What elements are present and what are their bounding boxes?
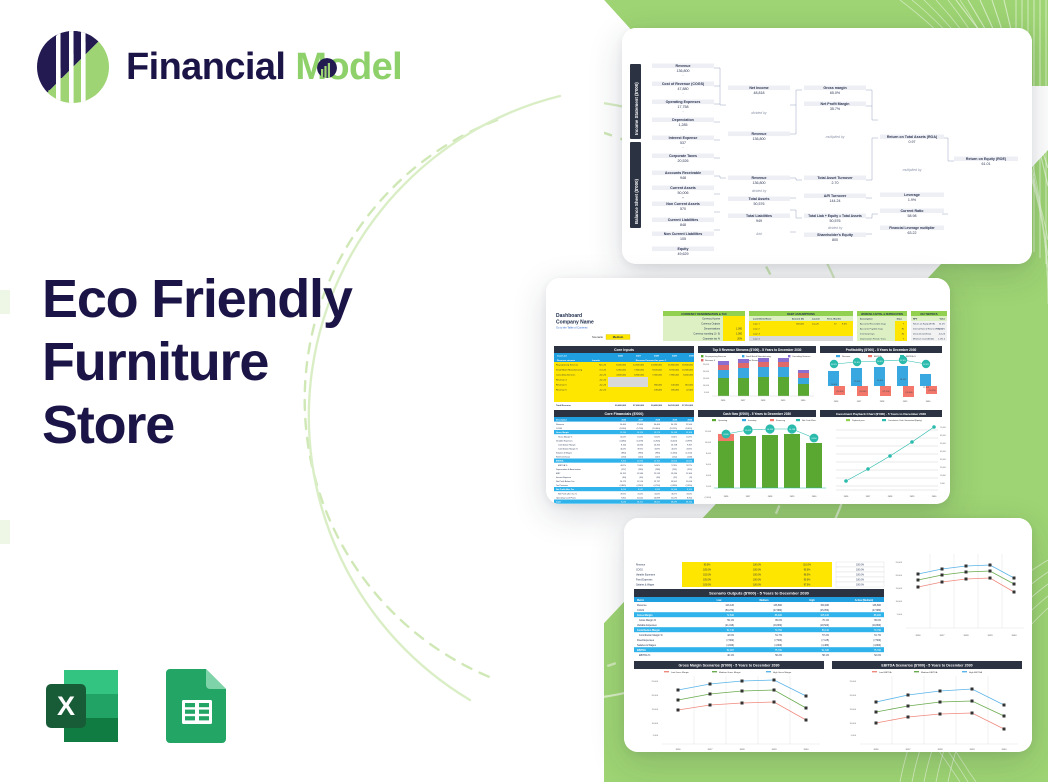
svg-text:18,500,000: 18,500,000 <box>682 365 694 367</box>
svg-text:Revenue Forecast for years 1: Revenue Forecast for years 1 <box>636 359 667 362</box>
svg-text:2026: 2026 <box>916 635 922 637</box>
svg-text:Metric: Metric <box>637 599 645 602</box>
svg-text:58.98: 58.98 <box>908 214 917 218</box>
svg-text:Currency Access: Currency Access <box>702 318 721 321</box>
svg-text:Tax Provision: Tax Provision <box>556 485 568 487</box>
svg-text:20,000: 20,000 <box>896 575 903 577</box>
svg-text:10,350: 10,350 <box>767 429 774 431</box>
svg-text:52.0%: 52.0% <box>874 654 882 657</box>
svg-text:Return on Total Assets (ROA): Return on Total Assets (ROA) <box>887 135 938 139</box>
svg-text:Accounts Receivable Days: Accounts Receivable Days <box>860 323 887 326</box>
svg-text:EBITDA %: EBITDA % <box>906 355 916 358</box>
svg-text:8,400,000: 8,400,000 <box>616 365 627 367</box>
svg-text:Core Inputs: Core Inputs <box>614 348 634 352</box>
svg-text:70,760: 70,760 <box>874 629 882 632</box>
financial-ratios-tree-screenshot[interactable]: Income Statement ($'000) Balance Sheet (… <box>622 28 1032 264</box>
svg-text:140,000: 140,000 <box>671 385 680 387</box>
svg-text:136,800: 136,800 <box>753 181 766 185</box>
svg-text:8.5%: 8.5% <box>842 324 847 326</box>
svg-text:(4,480): (4,480) <box>821 644 829 647</box>
svg-text:(19,860): (19,860) <box>872 624 881 627</box>
svg-text:Medium EBITDA: Medium EBITDA <box>921 671 938 674</box>
svg-text:38,699: 38,699 <box>671 502 678 504</box>
svg-text:11,300: 11,300 <box>686 473 693 475</box>
svg-text:16,800,000: 16,800,000 <box>668 365 680 367</box>
svg-text:+: + <box>682 196 684 200</box>
svg-text:21,000: 21,000 <box>940 467 946 469</box>
svg-text:Return on Equity (ROE): Return on Equity (ROE) <box>913 323 935 326</box>
svg-text:40.1%: 40.1% <box>727 654 735 657</box>
svg-text:2030: 2030 <box>804 749 810 751</box>
svg-text:Jan-26: Jan-26 <box>599 385 606 387</box>
svg-text:Jan-26: Jan-26 <box>599 390 606 392</box>
svg-text:(80): (80) <box>622 477 626 479</box>
svg-text:(7,500): (7,500) <box>774 639 782 642</box>
svg-text:(880): (880) <box>621 453 626 455</box>
svg-text:20,400,000: 20,400,000 <box>615 404 627 407</box>
svg-text:CURRENCY DENOMINATION & TAX: CURRENCY DENOMINATION & TAX <box>681 312 727 316</box>
svg-text:21,500: 21,500 <box>686 424 693 426</box>
svg-text:65.0%: 65.0% <box>775 619 783 622</box>
svg-text:27,600,000: 27,600,000 <box>633 405 645 407</box>
svg-text:8,040: 8,040 <box>723 434 729 436</box>
svg-text:(4,800): (4,800) <box>774 644 782 647</box>
svg-text:(10,200): (10,200) <box>836 391 843 393</box>
svg-text:Company Name: Company Name <box>556 320 594 326</box>
svg-text:5,000: 5,000 <box>704 392 710 394</box>
svg-text:1.9%: 1.9% <box>908 198 917 202</box>
svg-text:Inventory Days: Inventory Days <box>860 333 875 336</box>
slide-canvas: Financial Model Ec <box>0 0 1048 782</box>
svg-text:Consulting Services: Consulting Services <box>792 355 810 358</box>
svg-text:Oct-26: Oct-26 <box>599 369 606 372</box>
svg-text:12,240: 12,240 <box>620 432 627 434</box>
svg-text:Operating Cash Flows: Operating Cash Flows <box>556 497 576 500</box>
svg-text:51.4%: 51.4% <box>854 362 860 364</box>
svg-text:10,198: 10,198 <box>789 429 796 431</box>
svg-text:Revenue 4: Revenue 4 <box>705 360 716 362</box>
svg-text:Contribution Margin: Contribution Margin <box>637 629 660 632</box>
svg-text:divided by: divided by <box>752 189 767 193</box>
svg-text:9,820: 9,820 <box>655 489 661 491</box>
svg-text:(7,500): (7,500) <box>873 639 881 642</box>
svg-text:(140): (140) <box>638 457 643 459</box>
svg-text:(291): (291) <box>672 469 677 471</box>
svg-text:7,801: 7,801 <box>621 498 627 500</box>
svg-text:10,846: 10,846 <box>637 445 644 447</box>
svg-text:Scenario: Scenario <box>592 335 603 339</box>
svg-text:Small Batch Manufacturing: Small Batch Manufacturing <box>746 355 772 358</box>
svg-text:10,011: 10,011 <box>637 498 644 500</box>
svg-text:8,900: 8,900 <box>687 498 693 500</box>
svg-text:(10,640): (10,640) <box>653 428 661 430</box>
svg-text:EBITDA: EBITDA <box>556 460 564 463</box>
svg-text:(3,999): (3,999) <box>686 441 693 443</box>
svg-text:Salaries & Wages: Salaries & Wages <box>636 584 655 587</box>
svg-text:Revenue 6: Revenue 6 <box>556 390 567 392</box>
svg-text:105,430: 105,430 <box>820 614 829 617</box>
svg-text:18,151: 18,151 <box>637 502 644 504</box>
svg-text:Medium: Medium <box>759 599 768 602</box>
format-badges: X <box>40 664 236 748</box>
svg-text:100.0%: 100.0% <box>856 585 864 587</box>
svg-text:98.0%: 98.0% <box>804 575 811 577</box>
svg-text:Balance Sheet ($'000): Balance Sheet ($'000) <box>634 178 639 224</box>
svg-text:2026: 2026 <box>676 749 682 751</box>
svg-text:(147): (147) <box>655 457 660 459</box>
svg-text:Description: Description <box>556 418 568 421</box>
svg-text:Term, Months: Term, Months <box>827 318 842 321</box>
svg-text:Total Assets: Total Assets <box>749 197 770 201</box>
svg-text:Accounts Receivable: Accounts Receivable <box>665 171 701 175</box>
svg-text:57.2%: 57.2% <box>822 634 830 637</box>
svg-text:(19,860): (19,860) <box>773 624 782 627</box>
svg-text:13,901: 13,901 <box>671 481 678 483</box>
svg-text:Depreciation: Depreciation <box>672 118 694 122</box>
svg-text:1,000: 1,000 <box>940 483 945 485</box>
svg-text:Operating Expenses: Operating Expenses <box>666 100 701 104</box>
svg-text:948: 948 <box>680 176 686 180</box>
svg-text:1,000: 1,000 <box>736 333 743 336</box>
svg-text:Launch: Launch <box>812 319 820 321</box>
headline-line-2: Furniture <box>42 331 442 394</box>
svg-text:Jan-26: Jan-26 <box>599 375 606 377</box>
svg-text:2028: 2028 <box>740 749 746 751</box>
svg-text:136,800: 136,800 <box>872 604 881 607</box>
svg-text:(9,706): (9,706) <box>637 428 644 430</box>
svg-text:39.5%: 39.5% <box>620 494 626 496</box>
svg-text:95.0%: 95.0% <box>804 570 811 572</box>
svg-text:50,576: 50,576 <box>830 219 841 223</box>
svg-text:2027: 2027 <box>708 749 714 751</box>
svg-text:46.1%: 46.1% <box>831 364 837 366</box>
svg-text:500,000: 500,000 <box>796 324 805 326</box>
svg-text:Accounts Payable Days: Accounts Payable Days <box>860 328 884 331</box>
svg-text:Return on Equity (ROE): Return on Equity (ROE) <box>966 157 1007 161</box>
svg-text:10,000: 10,000 <box>652 723 659 725</box>
svg-text:47,880: 47,880 <box>678 87 689 91</box>
svg-text:(10,620): (10,620) <box>928 390 935 392</box>
svg-text:Low: Low <box>717 599 722 602</box>
scenario-analysis-screenshot[interactable]: Revenue 90.0% 100.0% 110.0% 100.0% COGS … <box>624 518 1032 752</box>
svg-text:Net Profit After Tax: Net Profit After Tax <box>556 488 575 491</box>
svg-text:Currency Outputs: Currency Outputs <box>701 323 721 326</box>
svg-text:5,350,000: 5,350,000 <box>616 370 627 372</box>
svg-text:(12,115): (12,115) <box>670 428 678 430</box>
svg-text:50,576: 50,576 <box>754 202 765 206</box>
svg-text:Depreciation Period, Years: Depreciation Period, Years <box>860 338 887 341</box>
svg-text:Small Batch Manufacturing: Small Batch Manufacturing <box>556 369 583 372</box>
svg-text:60.0%: 60.0% <box>620 437 626 439</box>
brand-name-part2-wrap: Model <box>295 48 402 86</box>
svg-text:High: High <box>809 599 815 602</box>
svg-text:multiplied by: multiplied by <box>826 135 845 139</box>
svg-text:100.0%: 100.0% <box>753 585 761 587</box>
svg-text:46.1%: 46.1% <box>620 465 626 467</box>
svg-text:12,000: 12,000 <box>705 431 712 433</box>
svg-text:Contribution Margin: Contribution Margin <box>558 444 575 447</box>
svg-text:(8,160): (8,160) <box>620 428 627 430</box>
svg-text:(5,926): (5,926) <box>654 441 661 443</box>
svg-text:15,000: 15,000 <box>850 709 857 711</box>
svg-text:72,846: 72,846 <box>727 614 735 617</box>
svg-text:Financial Leverage multiplier: Financial Leverage multiplier <box>889 226 935 230</box>
svg-text:(6,420): (6,420) <box>671 441 678 443</box>
svg-text:Revenue: Revenue <box>556 424 565 426</box>
svg-text:Revenue 5: Revenue 5 <box>556 385 567 387</box>
svg-text:13,306: 13,306 <box>686 432 693 434</box>
svg-text:2030: 2030 <box>1002 749 1008 751</box>
svg-text:570: 570 <box>680 207 686 211</box>
svg-text:Medium: Medium <box>613 335 624 339</box>
svg-text:4,000: 4,000 <box>706 475 712 477</box>
svg-text:31.0%: 31.0% <box>637 494 643 496</box>
svg-text:X: X <box>57 691 75 721</box>
svg-text:10,000: 10,000 <box>703 385 710 387</box>
svg-text:11,056: 11,056 <box>686 481 693 483</box>
svg-text:(280): (280) <box>638 469 643 471</box>
svg-text:2026: 2026 <box>874 749 880 751</box>
left-content-column: Financial Model Ec <box>0 0 470 782</box>
svg-text:100.0%: 100.0% <box>753 575 761 577</box>
svg-text:105.0%: 105.0% <box>703 580 711 582</box>
brand-name-part2: Model <box>295 46 402 88</box>
svg-text:4,600,000: 4,600,000 <box>616 375 627 377</box>
svg-text:49,629: 49,629 <box>678 252 689 256</box>
svg-text:36.7%: 36.7% <box>671 494 677 496</box>
svg-text:75,700: 75,700 <box>874 649 882 652</box>
svg-text:136,800: 136,800 <box>677 69 690 73</box>
svg-text:(2,000): (2,000) <box>705 497 712 499</box>
svg-text:9,307: 9,307 <box>687 445 693 447</box>
svg-text:Income Statement ($'000): Income Statement ($'000) <box>634 82 639 135</box>
svg-text:Financing: Financing <box>776 420 786 422</box>
svg-text:Revenue: Revenue <box>842 356 851 358</box>
svg-text:48,100: 48,100 <box>686 502 693 504</box>
svg-text:Cost Line: Cost Line <box>557 354 568 357</box>
svg-text:(4,580): (4,580) <box>671 485 678 487</box>
svg-text:33.0%: 33.0% <box>686 494 692 496</box>
svg-text:13,350: 13,350 <box>654 445 661 447</box>
svg-text:10,000: 10,000 <box>705 442 712 444</box>
svg-text:-: - <box>683 74 684 78</box>
svg-text:Salaries & Wages: Salaries & Wages <box>556 453 572 455</box>
svg-text:Nov-26: Nov-26 <box>599 365 607 367</box>
svg-text:Cash flow ($'000) - 5 Years to: Cash flow ($'000) - 5 Years to December … <box>723 412 791 416</box>
svg-text:(980): (980) <box>638 453 643 455</box>
svg-text:EBITDA %: EBITDA % <box>639 654 651 657</box>
svg-text:2027: 2027 <box>906 749 912 751</box>
svg-text:7,900,000: 7,900,000 <box>669 375 680 377</box>
svg-text:12,700: 12,700 <box>654 461 661 463</box>
svg-text:949: 949 <box>756 219 762 223</box>
svg-text:Gross Margin Scenarios ($'000): Gross Margin Scenarios ($'000) - 5 Years… <box>678 664 779 668</box>
svg-text:8,547: 8,547 <box>638 489 644 491</box>
brand-wordmark: Financial Model <box>126 48 402 86</box>
svg-text:EBIT: EBIT <box>556 473 561 475</box>
svg-text:51.7%: 51.7% <box>874 634 882 637</box>
svg-text:13,728: 13,728 <box>671 445 678 447</box>
svg-text:8,040: 8,040 <box>621 502 627 504</box>
svg-text:25,000: 25,000 <box>703 364 710 366</box>
svg-text:(1,060): (1,060) <box>671 453 678 455</box>
svg-text:31,000: 31,000 <box>940 459 946 461</box>
svg-text:Re-purposing Services: Re-purposing Services <box>705 355 726 358</box>
svg-text:Net Cash Flow: Net Cash Flow <box>802 419 816 422</box>
svg-text:Shareholder's Equity: Shareholder's Equity <box>817 233 853 237</box>
svg-text:27,600: 27,600 <box>637 424 644 426</box>
svg-text:Investing: Investing <box>748 419 757 422</box>
svg-text:9,100,000: 9,100,000 <box>652 370 663 372</box>
svg-text:Total Revenue: Total Revenue <box>556 404 572 407</box>
svg-text:Consulting Services: Consulting Services <box>556 374 576 377</box>
svg-text:25,000: 25,000 <box>896 562 903 564</box>
svg-text:8,160: 8,160 <box>621 445 627 447</box>
svg-text:Re-purposing Services: Re-purposing Services <box>556 364 579 367</box>
svg-text:41,000: 41,000 <box>940 451 946 453</box>
svg-text:Jan-26: Jan-26 <box>939 334 946 336</box>
svg-text:39.3%: 39.3% <box>637 449 643 451</box>
svg-text:COGS: COGS <box>637 609 644 612</box>
svg-text:19,276: 19,276 <box>654 432 661 434</box>
svg-text:Current Ratio: Current Ratio <box>901 209 925 213</box>
svg-text:9,700,000: 9,700,000 <box>669 370 680 372</box>
svg-text:-: - <box>683 110 684 114</box>
svg-text:30,400: 30,400 <box>877 380 883 382</box>
svg-text:90.0%: 90.0% <box>704 565 711 567</box>
svg-text:(288): (288) <box>655 469 660 471</box>
svg-text:(7,902): (7,902) <box>726 639 734 642</box>
svg-text:25,000: 25,000 <box>652 681 659 683</box>
svg-text:Minimum Cash ($'000): Minimum Cash ($'000) <box>913 339 934 341</box>
svg-text:Revenue: Revenue <box>752 176 767 180</box>
svg-text:5,000: 5,000 <box>851 735 857 737</box>
svg-text:20,000: 20,000 <box>850 695 857 697</box>
svg-text:Currency rounding (1 / 0): Currency rounding (1 / 0) <box>693 333 720 336</box>
svg-text:136,800: 136,800 <box>773 604 782 607</box>
svg-text:Scenario Outputs ($'000) - 5 Y: Scenario Outputs ($'000) - 5 Years to De… <box>709 591 810 596</box>
svg-text:Active (Medium): Active (Medium) <box>855 599 874 602</box>
svg-text:71,000: 71,000 <box>940 427 946 429</box>
svg-text:10,346: 10,346 <box>671 489 678 491</box>
svg-text:Interest Expense: Interest Expense <box>556 476 572 479</box>
svg-text:2029: 2029 <box>672 355 678 357</box>
svg-text:1,000: 1,000 <box>736 328 743 331</box>
scenario-sheet: Revenue 90.0% 100.0% 110.0% 100.0% COGS … <box>624 518 1032 752</box>
google-sheets-badge-icon[interactable] <box>152 664 236 748</box>
svg-text:88,920: 88,920 <box>775 614 783 617</box>
svg-text:58.1%: 58.1% <box>822 654 830 657</box>
svg-text:100.0%: 100.0% <box>856 570 864 572</box>
svg-text:2027: 2027 <box>940 635 946 637</box>
svg-text:(64): (64) <box>639 477 643 479</box>
svg-text:100.0%: 100.0% <box>753 565 761 567</box>
svg-text:Salaries & Wages: Salaries & Wages <box>637 644 657 647</box>
svg-text:2029: 2029 <box>988 635 994 637</box>
dashboard-screenshot[interactable]: Dashboard Company Name Go to the Table o… <box>546 278 950 504</box>
svg-text:0.97: 0.97 <box>909 140 916 144</box>
svg-text:Revenue: Revenue <box>636 565 646 567</box>
svg-text:Equity: Equity <box>678 247 689 251</box>
svg-text:(47,880): (47,880) <box>872 609 881 612</box>
svg-text:Gross Margin %: Gross Margin % <box>558 437 573 439</box>
svg-text:EBITDA: EBITDA <box>637 649 646 652</box>
svg-text:Current Assets: Current Assets <box>670 186 696 190</box>
dashboard-sheet: Dashboard Company Name Go to the Table o… <box>546 278 950 504</box>
svg-text:Depreciation & Amortisation: Depreciation & Amortisation <box>556 468 581 471</box>
svg-text:EBITDA %: EBITDA % <box>558 464 568 467</box>
svg-text:Interest Expense: Interest Expense <box>669 136 698 140</box>
svg-text:8,650: 8,650 <box>811 438 817 440</box>
svg-text:(130): (130) <box>621 457 626 459</box>
svg-text:WORKING CAPITAL & DEPRECIATION: WORKING CAPITAL & DEPRECIATION <box>861 313 903 316</box>
svg-text:(7,125): (7,125) <box>821 639 829 642</box>
svg-text:Revenue: Revenue <box>637 604 647 607</box>
svg-text:52.7%: 52.7% <box>686 465 692 467</box>
svg-text:(1,100): (1,100) <box>686 453 693 455</box>
svg-text:54.4%: 54.4% <box>877 361 883 363</box>
svg-text:Net Profit after Tax %: Net Profit after Tax % <box>558 493 577 496</box>
svg-text:22,000: 22,000 <box>686 390 693 392</box>
svg-text:105.0%: 105.0% <box>703 570 711 572</box>
svg-text:Current Liabilities: Current Liabilities <box>668 218 699 222</box>
svg-text:88,920: 88,920 <box>874 614 882 617</box>
svg-text:High Gross Margin: High Gross Margin <box>773 671 792 674</box>
svg-text:65.0%: 65.0% <box>874 619 882 622</box>
svg-text:12,600,000: 12,600,000 <box>633 365 645 367</box>
svg-text:13,260: 13,260 <box>671 473 678 475</box>
brand-logo-lockup: Financial Model <box>34 28 402 106</box>
microsoft-excel-badge-icon[interactable]: X <box>40 664 124 748</box>
svg-text:Revenue streams: Revenue streams <box>557 359 576 362</box>
svg-text:Gross Margin: Gross Margin <box>637 614 653 617</box>
svg-text:63.4%: 63.4% <box>671 437 677 439</box>
svg-text:10,119: 10,119 <box>745 430 752 432</box>
svg-text:KEY METRICS: KEY METRICS <box>920 313 937 316</box>
svg-text:57.6%: 57.6% <box>900 360 906 362</box>
svg-text:8,050: 8,050 <box>621 489 627 491</box>
svg-text:Cash: Cash <box>556 502 562 504</box>
svg-text:Assumption: Assumption <box>860 318 873 321</box>
headline-line-3: Store <box>42 394 442 457</box>
svg-text:97.0%: 97.0% <box>804 585 811 587</box>
svg-text:NPV: NPV <box>913 319 918 321</box>
svg-text:Fixed Expenses: Fixed Expenses <box>636 580 653 582</box>
svg-text:848: 848 <box>680 223 686 227</box>
svg-text:10,000: 10,000 <box>896 601 903 603</box>
svg-text:(4,800): (4,800) <box>873 644 881 647</box>
svg-text:Contribution Margin %: Contribution Margin % <box>639 634 664 637</box>
svg-text:100.0%: 100.0% <box>856 580 864 582</box>
svg-text:Low Gross Margin: Low Gross Margin <box>671 671 690 674</box>
svg-text:34,120: 34,120 <box>900 379 906 381</box>
svg-text:Net Profit Before Tax: Net Profit Before Tax <box>556 480 574 483</box>
svg-text:34,120: 34,120 <box>671 424 678 426</box>
svg-text:8,000: 8,000 <box>706 453 712 455</box>
svg-text:Core Financials ($'000): Core Financials ($'000) <box>604 412 644 416</box>
svg-text:(5,278): (5,278) <box>637 441 644 443</box>
svg-text:37,210,000: 37,210,000 <box>682 405 694 407</box>
svg-text:COGS: COGS <box>556 428 563 430</box>
svg-text:61.0%: 61.0% <box>637 437 643 439</box>
svg-text:Investment Payback Chart ($'00: Investment Payback Chart ($'000) - 5 Yea… <box>836 412 926 416</box>
svg-text:6,800,000: 6,800,000 <box>634 375 645 377</box>
svg-text:Total Liab + Equity = Total As: Total Liab + Equity = Total Assets <box>808 214 862 218</box>
svg-text:(48): (48) <box>656 477 660 479</box>
svg-text:800: 800 <box>832 238 838 242</box>
svg-text:2030: 2030 <box>1012 635 1018 637</box>
svg-text:Add: Add <box>755 232 762 236</box>
